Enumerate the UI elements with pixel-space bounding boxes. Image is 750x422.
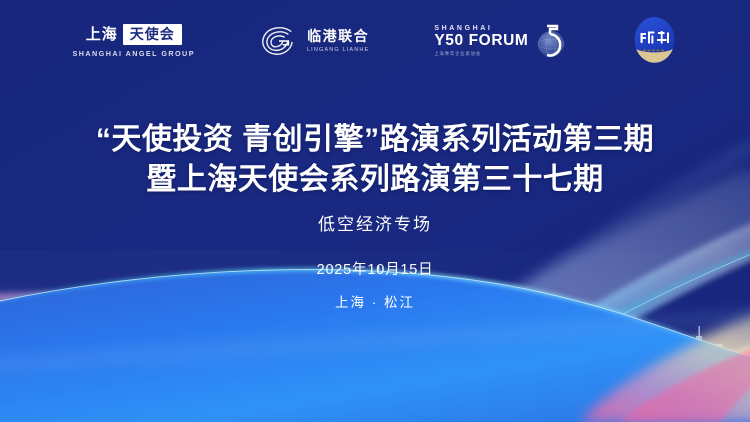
logo-y50-en-main: Y50 FORUM (434, 33, 528, 49)
y50-sphere-icon (531, 20, 567, 62)
logo-linggang-badge (632, 15, 677, 67)
title-block: “天使投资 青创引擎”路演系列活动第三期 暨上海天使会系列路演第三十七期 低空经… (0, 120, 750, 235)
logo-angel-cn-prefix: 上海 (86, 27, 118, 42)
logo-shanghai-angel-group: 上海 天使会 SHANGHAI ANGEL GROUP (73, 24, 195, 57)
event-date: 2025年10月15日 (0, 258, 750, 279)
logo-lingang-en: LINGANG LIANHE (307, 47, 369, 53)
event-subtitle: 低空经济专场 (0, 210, 750, 235)
sponsor-logo-strip: 上海 天使会 SHANGHAI ANGEL GROUP 临港联合 LING (0, 0, 750, 82)
event-title-line-2: 暨上海天使会系列路演第三十七期 (0, 160, 750, 200)
event-meta-block: 2025年10月15日 上海 · 松江 (0, 258, 750, 311)
logo-y50-cn-sub: 上海青年企业家协会 (434, 51, 481, 57)
linggang-circle-badge-icon (632, 15, 677, 67)
event-poster: 上海 天使会 SHANGHAI ANGEL GROUP 临港联合 LING (0, 0, 750, 422)
event-location: 上海 · 松江 (0, 291, 750, 311)
event-title-line-1: “天使投资 青创引擎”路演系列活动第三期 (0, 120, 750, 160)
logo-lingang-cn: 临港联合 (307, 29, 369, 43)
lingang-swirl-icon (260, 26, 298, 56)
logo-angel-wordmark: 上海 天使会 (86, 24, 182, 44)
logo-shanghai-y50-forum: SHANGHAI Y50 FORUM 上海青年企业家协会 (434, 20, 567, 62)
logo-lingang-lianhe: 临港联合 LINGANG LIANHE (260, 26, 369, 56)
logo-angel-en: SHANGHAI ANGEL GROUP (73, 49, 195, 58)
logo-angel-cn-boxed: 天使会 (123, 24, 182, 44)
